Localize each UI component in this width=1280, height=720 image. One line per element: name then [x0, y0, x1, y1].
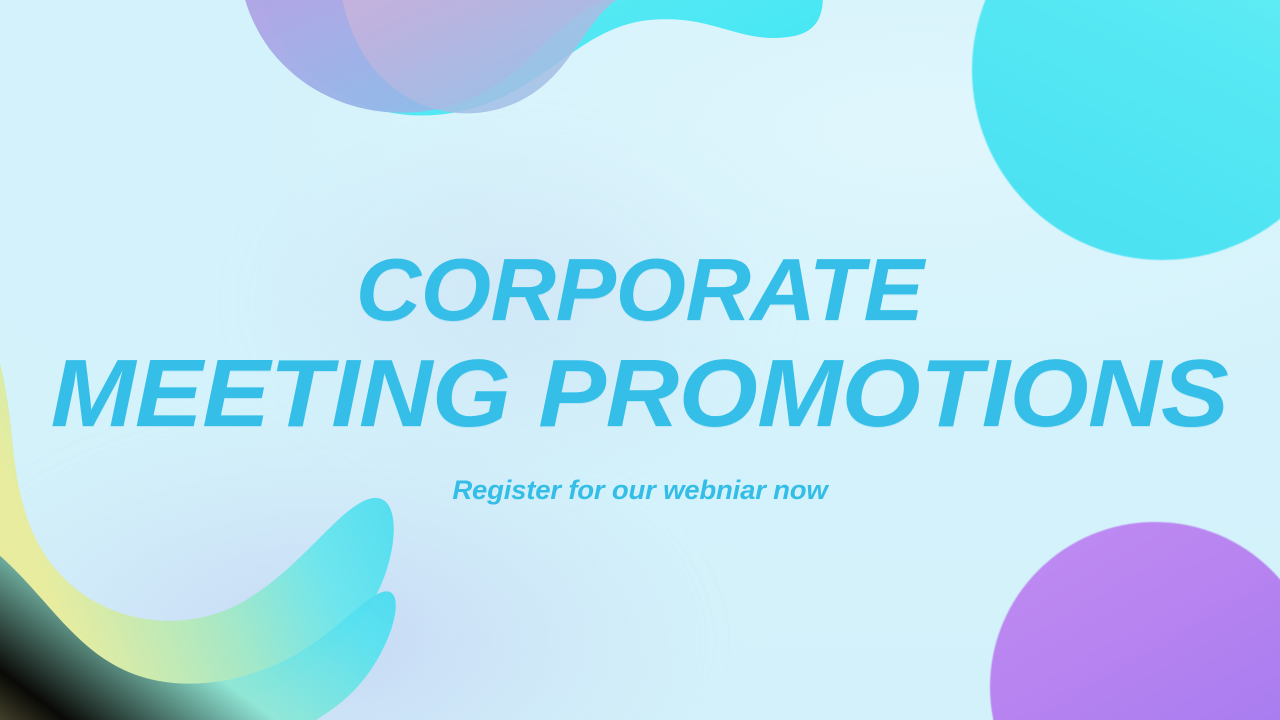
promo-poster: CORPORATE MEETING PROMOTIONS Register fo…	[0, 0, 1280, 720]
headline-line-2: MEETING PROMOTIONS	[51, 348, 1229, 440]
headline-line-1: CORPORATE	[356, 248, 924, 332]
subtitle-call-to-action: Register for our webniar now	[452, 475, 827, 506]
poster-content: CORPORATE MEETING PROMOTIONS Register fo…	[0, 0, 1280, 720]
